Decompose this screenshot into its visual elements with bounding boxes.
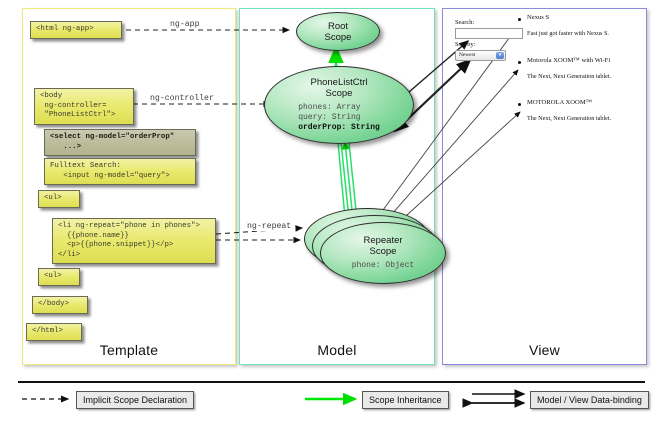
scope-props-plain: phones: Array query: String bbox=[298, 103, 360, 122]
scope-repeater-title: Repeater Scope bbox=[363, 235, 402, 257]
view-phone-snippet: Fast just got faster with Nexus S. bbox=[527, 30, 609, 37]
scope-phonelistctrl-props: phones: Array query: String orderProp: S… bbox=[298, 103, 380, 132]
view-phone-name: Nexus S bbox=[527, 14, 549, 21]
code-box-fulltext-search: Fulltext Search: <input ng-model="query"… bbox=[44, 158, 196, 185]
code-box-ul-close: <ul> bbox=[38, 268, 80, 286]
code-box-html-close: </html> bbox=[26, 323, 82, 341]
code-box-li-repeat: <li ng-repeat="phone in phones"> {{phone… bbox=[52, 218, 216, 264]
diagram-canvas: Template Model View bbox=[0, 0, 661, 425]
scope-root-title: Root Scope bbox=[325, 21, 352, 43]
code-box-html-open: <html ng-app> bbox=[30, 21, 122, 39]
list-bullet bbox=[518, 61, 521, 64]
code-box-body-open: <body ng-controller= "PhoneListCtrl"> bbox=[34, 88, 134, 125]
code-box-ul-open: <ul> bbox=[38, 190, 80, 208]
scope-props-bold: orderProp: String bbox=[298, 123, 380, 132]
view-phone-snippet: The Next, Next Generation tablet. bbox=[527, 73, 611, 80]
scope-root: Root Scope bbox=[296, 12, 380, 51]
code-box-select: <select ng-model="orderProp" ...> bbox=[44, 129, 196, 156]
chevron-down-icon: ▾ bbox=[496, 52, 504, 59]
view-phone-name: Motorola XOOM™ with Wi-Fi bbox=[527, 57, 610, 64]
legend-scope-inheritance: Scope Inheritance bbox=[362, 391, 449, 409]
list-bullet bbox=[518, 18, 521, 21]
view-sort-label: Sort by: bbox=[455, 41, 475, 48]
view-search-label: Search: bbox=[455, 19, 474, 26]
code-box-body-close: </body> bbox=[32, 296, 88, 314]
label-ng-repeat: ng-repeat bbox=[245, 222, 293, 231]
panel-model: Model bbox=[239, 8, 435, 365]
legend-divider bbox=[18, 381, 645, 383]
scope-phonelistctrl: PhoneListCtrl Scope phones: Array query:… bbox=[264, 66, 414, 144]
view-sort-selected-value: Newest bbox=[459, 52, 475, 58]
scope-repeater: Repeater Scope phone: Object bbox=[320, 222, 446, 284]
view-sort-select[interactable]: Newest ▾ bbox=[455, 50, 506, 61]
view-search-input[interactable] bbox=[455, 28, 523, 39]
label-ng-controller: ng-controller bbox=[148, 94, 216, 103]
panel-label-view: View bbox=[443, 342, 646, 358]
list-bullet bbox=[518, 103, 521, 106]
label-ng-app: ng-app bbox=[168, 20, 201, 29]
scope-phonelistctrl-title: PhoneListCtrl Scope bbox=[310, 77, 367, 99]
view-phone-snippet: The Next, Next Generation tablet. bbox=[527, 115, 611, 122]
view-phone-name: MOTOROLA XOOM™ bbox=[527, 99, 592, 106]
panel-label-model: Model bbox=[240, 342, 434, 358]
panel-label-template: Template bbox=[23, 342, 235, 358]
legend-model-view-data-binding: Model / View Data-binding bbox=[530, 391, 649, 409]
scope-repeater-props: phone: Object bbox=[352, 261, 414, 271]
legend-implicit-scope-declaration: Implicit Scope Declaration bbox=[76, 391, 194, 409]
